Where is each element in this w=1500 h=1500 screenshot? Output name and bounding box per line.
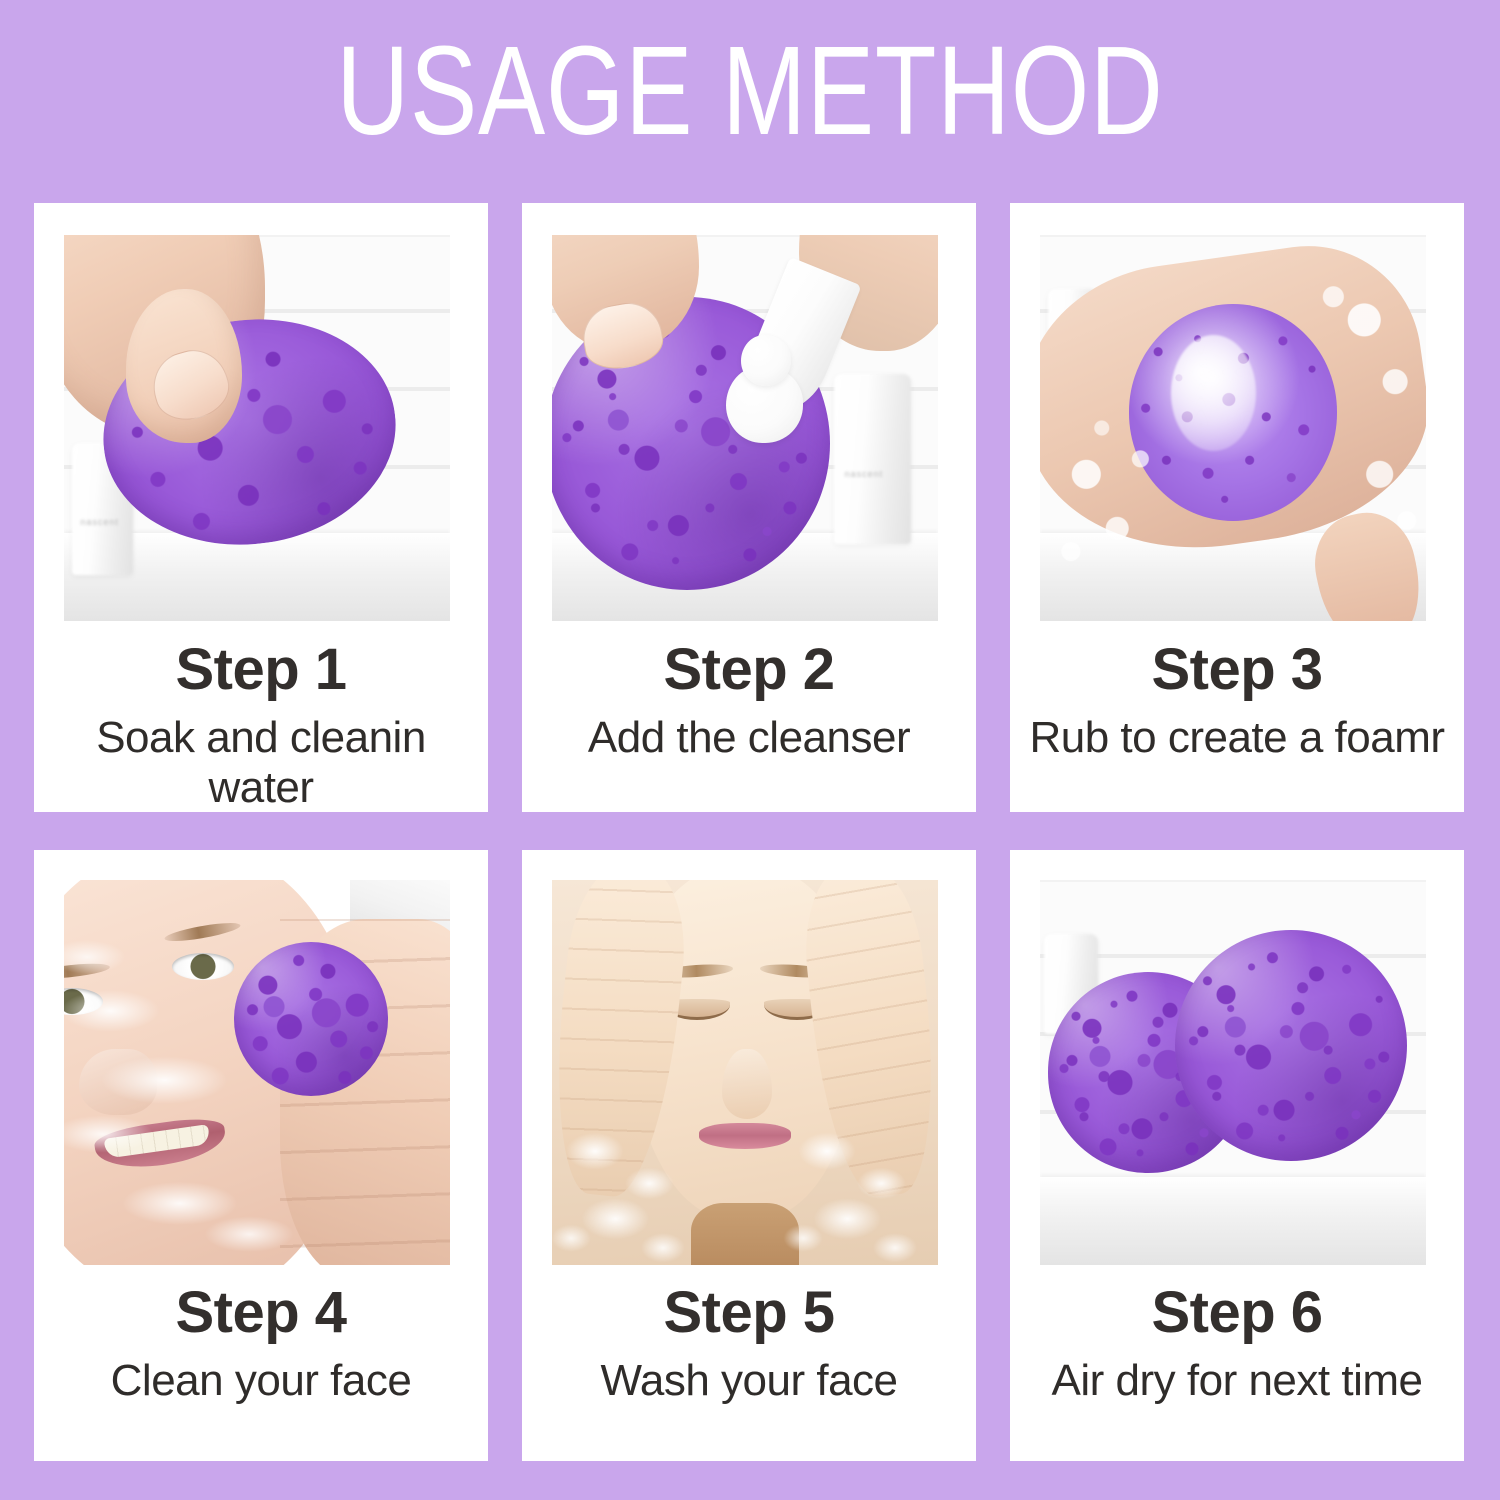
step-description: Soak and cleanin water — [34, 713, 488, 812]
step-6-photo — [1040, 880, 1426, 1265]
step-6-caption: Step 6 Air dry for next time — [1010, 1282, 1464, 1406]
page-title: USAGE METHOD — [150, 28, 1350, 154]
cleanser-dollop-top — [741, 335, 791, 385]
step-card-1[interactable]: nascent Step 1 Soak and cleanin water — [34, 203, 488, 812]
step-description: Wash your face — [522, 1356, 976, 1406]
step-1-caption: Step 1 Soak and cleanin water — [34, 639, 488, 812]
foam-bubbles — [1040, 235, 1426, 621]
sponge-disc-front — [1175, 930, 1407, 1161]
step-3-photo — [1040, 235, 1426, 621]
step-card-5[interactable]: Step 5 Wash your face — [522, 850, 976, 1461]
step-card-3[interactable]: Step 3 Rub to create a foamr — [1010, 203, 1464, 812]
step-description: Rub to create a foamr — [1010, 713, 1464, 763]
step-2-photo: nascent — [552, 235, 938, 621]
step-4-photo — [64, 880, 450, 1265]
counter-surface — [1040, 1177, 1426, 1265]
bottle-label: nascent — [80, 517, 119, 527]
steps-grid: nascent Step 1 Soak and cleanin water — [34, 203, 1466, 1461]
step-1-photo: nascent — [64, 235, 450, 621]
step-title: Step 2 — [522, 639, 976, 701]
step-4-caption: Step 4 Clean your face — [34, 1282, 488, 1406]
step-card-2[interactable]: nascent Step 2 Add the cleanser — [522, 203, 976, 812]
face-foam — [64, 880, 450, 1265]
infographic-page: USAGE METHOD nascent Step 1 Soak and cle… — [0, 0, 1500, 1500]
background-bottle: nascent — [834, 374, 911, 544]
bottle-label: nascent — [845, 469, 884, 479]
step-2-caption: Step 2 Add the cleanser — [522, 639, 976, 763]
step-card-6[interactable]: Step 6 Air dry for next time — [1010, 850, 1464, 1461]
step-title: Step 4 — [34, 1282, 488, 1344]
step-card-4[interactable]: Step 4 Clean your face — [34, 850, 488, 1461]
water-splash-right — [776, 1119, 938, 1265]
step-title: Step 6 — [1010, 1282, 1464, 1344]
step-title: Step 1 — [34, 639, 488, 701]
nose — [722, 1049, 772, 1118]
step-title: Step 5 — [522, 1282, 976, 1344]
sponge-pores-fine — [1175, 930, 1407, 1161]
step-3-caption: Step 3 Rub to create a foamr — [1010, 639, 1464, 763]
water-splash-left — [552, 1119, 714, 1265]
step-5-caption: Step 5 Wash your face — [522, 1282, 976, 1406]
step-description: Air dry for next time — [1010, 1356, 1464, 1406]
step-description: Add the cleanser — [522, 713, 976, 763]
step-description: Clean your face — [34, 1356, 488, 1406]
step-5-photo — [552, 880, 938, 1265]
step-title: Step 3 — [1010, 639, 1464, 701]
